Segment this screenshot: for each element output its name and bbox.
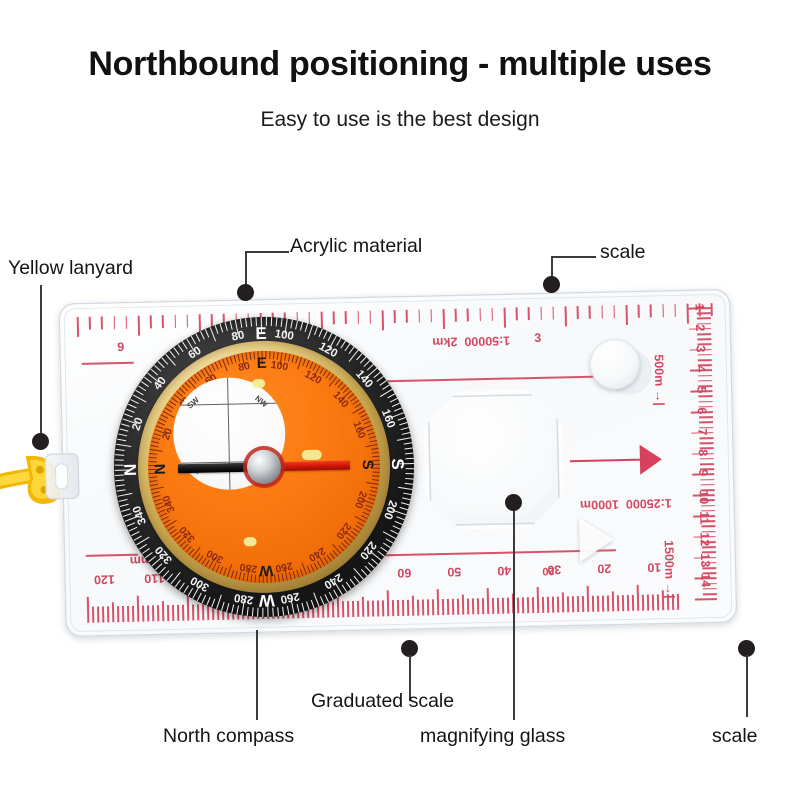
bezel-tick xyxy=(116,484,125,486)
ruler-tick xyxy=(552,597,554,613)
ruler-tick xyxy=(699,437,713,439)
ruler-number: 8 xyxy=(696,449,710,456)
bezel-degree: 260 xyxy=(278,589,302,605)
callout-leader-scale-top-v xyxy=(551,256,553,278)
bezel-tick xyxy=(220,323,224,332)
ruler-number: 13 xyxy=(698,553,712,567)
bezel-tick xyxy=(401,502,410,506)
ruler-tick xyxy=(517,597,519,613)
ruler-number: 50 xyxy=(442,565,466,580)
bezel-tick xyxy=(124,413,133,417)
bezel-tick xyxy=(404,442,413,445)
ruler-tick xyxy=(467,598,469,614)
ruler-tick xyxy=(647,595,649,611)
dial-tick xyxy=(149,480,157,482)
ruler-tick xyxy=(627,595,629,611)
bezel-tick xyxy=(246,607,248,616)
bezel-tick xyxy=(307,325,313,340)
dial-subcardinal-nw: NW xyxy=(253,394,269,409)
ruler-number: 20 xyxy=(592,561,616,576)
callout-label-scale-top: scale xyxy=(600,241,646,264)
ruler-tick xyxy=(701,505,715,507)
bezel-tick xyxy=(324,594,329,603)
ruler-tick xyxy=(557,597,559,613)
callout-label-acrylic-material: Acrylic material xyxy=(290,235,422,258)
ruler-number: 7 xyxy=(695,428,709,435)
ruler-tick xyxy=(547,597,549,613)
bezel-tick xyxy=(116,489,125,492)
bezel-tick xyxy=(396,516,405,520)
bezel-tick xyxy=(118,433,127,436)
bezel-tick xyxy=(281,318,283,327)
dial-tick xyxy=(366,482,379,485)
bezel-tick xyxy=(385,538,393,544)
bezel-tick xyxy=(364,566,371,573)
bezel-tick xyxy=(201,595,206,604)
dial-tick xyxy=(278,574,280,582)
lanyard-hole xyxy=(55,463,69,489)
callout-label-yellow-lanyard: Yellow lanyard xyxy=(8,257,133,280)
ruler-tick xyxy=(703,593,717,595)
ruler-tick xyxy=(101,316,103,329)
bezel-tick xyxy=(116,443,131,447)
ruler-tick xyxy=(698,375,712,377)
bezel-tick xyxy=(329,592,334,601)
ruler-tick xyxy=(642,595,644,611)
dial-tick xyxy=(295,356,298,364)
ruler-tick xyxy=(430,309,432,322)
ruler-tick xyxy=(577,596,579,612)
bezel-tick xyxy=(402,497,411,500)
ruler-tick xyxy=(699,401,713,403)
ruler-tick xyxy=(698,354,712,356)
bezel-tick xyxy=(399,422,408,426)
ruler-tick xyxy=(522,597,524,613)
ruler-tick xyxy=(491,308,493,321)
magnifier-inner xyxy=(435,401,554,520)
dial-tick xyxy=(372,475,380,477)
luminous-dot-top xyxy=(252,379,265,388)
callout-leader-yellow-lanyard xyxy=(40,285,42,437)
bezel-tick xyxy=(371,558,379,565)
ruler-tick xyxy=(552,307,554,320)
ruler-tick xyxy=(432,599,434,615)
bezel-tick xyxy=(215,325,219,334)
index-triangle xyxy=(579,517,614,562)
dial-tick xyxy=(370,440,378,443)
dial-tick xyxy=(149,453,157,455)
dial-tick xyxy=(150,449,163,452)
callout-leader-scale-top-h xyxy=(551,256,596,258)
callout-leader-acrylic-h xyxy=(245,251,289,253)
bezel-tick xyxy=(399,507,408,511)
ruler-tick xyxy=(702,546,716,548)
ruler-number: 1 xyxy=(693,303,707,310)
bezel-degree: 280 xyxy=(232,591,256,606)
bezel-tick xyxy=(403,493,412,496)
ruler-tick xyxy=(442,599,444,615)
bezel-tick xyxy=(401,427,410,431)
luminous-dot-bottom xyxy=(244,537,257,546)
ruler-tick xyxy=(528,307,530,320)
bezel-tick xyxy=(387,393,395,399)
bezel-tick xyxy=(115,454,124,456)
ruler-number: 12 xyxy=(698,532,712,546)
bezel-tick xyxy=(296,604,299,613)
ruler-tick xyxy=(447,599,449,615)
dial-tick xyxy=(151,486,164,490)
bezel-tick xyxy=(200,331,205,340)
ruler-tick xyxy=(700,479,714,481)
ruler-tick xyxy=(698,380,712,382)
ruler-tick xyxy=(467,308,469,321)
ruler-tick xyxy=(102,606,104,622)
ruler-tick xyxy=(652,594,654,610)
ruler-tick xyxy=(700,484,714,486)
bezel-tick xyxy=(390,398,399,403)
bezel-tick xyxy=(295,320,298,329)
ruler-number: 9 xyxy=(696,470,710,477)
bezel-tick xyxy=(314,326,318,335)
bezel-tick xyxy=(197,593,202,602)
ruler-tick xyxy=(607,595,609,611)
dial-tick xyxy=(277,352,279,360)
bezel-tick xyxy=(245,318,247,327)
bezel-tick xyxy=(402,432,411,435)
dial-tick xyxy=(151,445,159,448)
dial-tick xyxy=(218,360,222,368)
ruler-tick xyxy=(97,607,99,623)
bezel-tick xyxy=(191,336,197,344)
ruler-tick xyxy=(697,318,711,320)
ruler-tick xyxy=(89,317,91,330)
bezel-tick xyxy=(123,513,132,517)
bezel-tick xyxy=(328,333,333,342)
bezel-tick xyxy=(121,423,130,427)
dial-tick xyxy=(369,436,377,439)
bezel-tick xyxy=(161,357,168,364)
bezel-tick xyxy=(368,562,375,569)
direction-arrow-head xyxy=(640,444,663,474)
ruler-tick xyxy=(452,599,454,615)
bezel-tick xyxy=(144,377,152,383)
bezel-tick xyxy=(345,582,351,590)
bezel-tick xyxy=(380,547,388,553)
bezel-tick xyxy=(117,438,126,441)
bezel-tick xyxy=(119,428,128,432)
ruler-tick xyxy=(502,598,504,614)
bezel-tick xyxy=(130,399,139,404)
bezel-tick xyxy=(182,341,188,349)
bezel-tick xyxy=(394,521,403,526)
dial-tick xyxy=(250,574,252,582)
callout-dot-acrylic-material xyxy=(237,284,254,301)
bezel-tick xyxy=(287,606,290,615)
callout-label-graduated-scale: Graduated scale xyxy=(311,690,454,713)
callout-dot-yellow-lanyard xyxy=(32,433,49,450)
ruler-tick xyxy=(542,597,544,613)
bezel-tick xyxy=(301,603,305,612)
ruler-tick xyxy=(597,596,599,612)
ruler-tick xyxy=(479,308,481,321)
bezel-tick xyxy=(405,483,414,485)
ruler-tick xyxy=(107,606,109,622)
bezel-tick xyxy=(404,447,413,449)
dial-tick xyxy=(370,490,378,493)
bezel-tick xyxy=(282,607,284,616)
bezel-tick xyxy=(349,579,355,587)
bezel-tick xyxy=(323,330,328,339)
dial-tick xyxy=(371,486,379,489)
bezel-tick xyxy=(392,402,401,407)
callout-label-north-compass: North compass xyxy=(163,725,294,748)
ruler-tick xyxy=(711,303,713,316)
ruler-tick xyxy=(622,595,624,611)
page-title: Northbound positioning - multiple uses xyxy=(0,45,800,84)
dial-degree: 100 xyxy=(269,359,291,374)
callout-leader-scale-bottom xyxy=(746,655,748,717)
ruler-number: 14 xyxy=(698,574,712,588)
ruler-tick xyxy=(418,309,420,322)
bezel-tick xyxy=(126,408,135,413)
callout-dot-scale-top xyxy=(543,276,560,293)
ruler-tick xyxy=(701,525,715,527)
bezel-tick xyxy=(151,369,159,376)
dial-tick xyxy=(372,479,380,481)
dial-tick xyxy=(292,355,295,363)
bezel-tick xyxy=(353,576,360,584)
bezel-tick xyxy=(195,333,200,342)
magnifying-glass-lens[interactable] xyxy=(422,388,565,531)
dial-tick xyxy=(242,573,245,581)
ruler-tick xyxy=(92,607,94,623)
ruler-tick xyxy=(455,309,457,322)
luminous-dot-right xyxy=(302,450,322,460)
ruler-tick xyxy=(507,598,509,614)
dial-degree: 80 xyxy=(233,359,255,375)
dial-tick xyxy=(300,569,304,577)
ruler-tick xyxy=(703,588,717,590)
bezel-tick xyxy=(206,597,211,606)
ruler-tick xyxy=(532,597,534,613)
ruler-tick xyxy=(699,416,713,418)
dial-tick xyxy=(152,491,160,494)
bezel-tick xyxy=(306,601,310,610)
dial-tick xyxy=(238,572,241,580)
dial-tick xyxy=(368,497,376,500)
bezel-tick xyxy=(141,381,149,387)
dial-tick xyxy=(284,353,287,361)
ruler-tick xyxy=(702,567,716,569)
romer-mark-20: 20 xyxy=(542,565,555,577)
ruler-tick xyxy=(482,598,484,614)
bezel-tick xyxy=(118,499,127,502)
bezel-tick xyxy=(397,437,412,441)
ruler-tick xyxy=(457,599,459,615)
dial-tick xyxy=(234,571,237,579)
bezel-tick xyxy=(300,322,304,331)
bezel-tick xyxy=(390,530,399,535)
ruler-tick xyxy=(516,307,518,320)
bezel-tick xyxy=(154,365,161,372)
bezel-tick xyxy=(117,493,132,497)
ruler-tick xyxy=(617,595,619,611)
ruler-number: 6 xyxy=(695,407,709,414)
bezel-tick xyxy=(127,522,136,527)
bezel-tick xyxy=(311,600,315,609)
ruler-tick xyxy=(572,596,574,612)
bezel-tick xyxy=(129,526,138,531)
ruler-tick xyxy=(592,596,594,612)
bezel-tick xyxy=(120,503,129,507)
ruler-tick xyxy=(577,306,579,319)
ruler-tick xyxy=(697,338,711,340)
dial-degree: 200 xyxy=(352,488,370,511)
bezel-tick xyxy=(240,319,243,328)
ruler-tick xyxy=(427,599,429,615)
dial-tick xyxy=(365,505,373,509)
ruler-tick xyxy=(497,598,499,614)
bezel-tick xyxy=(135,390,143,396)
ruler-tick xyxy=(650,304,652,317)
bezel-tick xyxy=(169,350,176,358)
ruler-tick xyxy=(540,307,542,320)
ruler-number: 11 xyxy=(697,511,711,525)
bezel-tick xyxy=(231,604,234,613)
ruler-tick xyxy=(472,598,474,614)
bezel-tick xyxy=(128,404,137,409)
bezel-tick xyxy=(383,543,391,549)
callout-label-scale-bottom: scale xyxy=(712,725,758,748)
bezel-tick xyxy=(211,599,215,608)
bezel-tick xyxy=(225,322,229,331)
orienting-line-v xyxy=(227,378,230,490)
ruler-number: 4 xyxy=(694,366,708,373)
dial-tick xyxy=(231,570,234,578)
ruler-number: 5 xyxy=(694,386,708,393)
callout-dot-magnifying-glass xyxy=(505,494,522,511)
bezel-tick xyxy=(394,407,403,412)
bezel-tick xyxy=(221,602,225,611)
ruler-tick xyxy=(527,597,529,613)
bezel-tick xyxy=(158,361,165,368)
callout-label-magnifying-glass: magnifying glass xyxy=(420,725,565,748)
ruler-number: 2 xyxy=(693,324,707,331)
ruler-tick xyxy=(698,359,712,361)
ruler-tick xyxy=(700,458,714,460)
scale-mark-500m: 500m →| xyxy=(652,354,667,406)
bezel-tick xyxy=(320,596,325,605)
ruler-tick xyxy=(657,594,659,610)
ruler-tick xyxy=(477,598,479,614)
bezel-tick xyxy=(377,551,385,557)
ruler-tick xyxy=(602,596,604,612)
north-compass-capsule[interactable]: NESW204060801001201401602002202402602803… xyxy=(111,314,417,620)
ruler-tick xyxy=(638,305,640,318)
dial-tick xyxy=(297,357,302,370)
ruler-tick xyxy=(700,463,714,465)
ruler-tick xyxy=(492,598,494,614)
bezel-tick xyxy=(276,317,278,326)
bezel-tick xyxy=(398,417,407,421)
page-subtitle: Easy to use is the best design xyxy=(0,108,800,132)
dial-subcardinal-sw: SW xyxy=(185,395,201,410)
ruler-tick xyxy=(697,312,711,314)
ruler-tick xyxy=(674,304,676,317)
ruler-tick xyxy=(632,595,634,611)
bezel-tick xyxy=(138,385,146,391)
callout-leader-north-compass xyxy=(256,630,258,720)
dial-tick xyxy=(292,571,295,579)
ruler-tick xyxy=(699,422,713,424)
bezel-tick xyxy=(313,592,320,606)
bezel-tick xyxy=(252,607,254,616)
dial-tick xyxy=(281,573,283,581)
ruler-tick xyxy=(700,442,714,444)
ruler-tick xyxy=(582,596,584,612)
dial-tick xyxy=(365,444,378,448)
dial-tick xyxy=(369,494,377,497)
dial-degree: 340 xyxy=(160,492,178,515)
dial-cardinal-s: S xyxy=(359,454,376,474)
dial-degree: 260 xyxy=(273,559,295,575)
callout-leader-acrylic-v xyxy=(245,251,247,286)
bezel-tick xyxy=(236,605,239,614)
ruler-number: 3 xyxy=(693,345,707,352)
ruler-number: 120 xyxy=(92,572,116,587)
bezel-tick xyxy=(341,584,347,592)
dial-tick xyxy=(289,572,292,580)
bezel-tick xyxy=(178,344,184,352)
dial-degree: 220 xyxy=(333,519,355,542)
ruler-tick xyxy=(697,333,711,335)
ruler-tick xyxy=(601,305,603,318)
ruler-tick xyxy=(589,306,591,319)
bezel-tick xyxy=(173,347,179,355)
bezel-tick xyxy=(361,569,368,576)
bezel-tick xyxy=(398,487,413,491)
bezel-tick xyxy=(392,525,401,530)
bezel-tick xyxy=(319,328,324,337)
bezel-tick xyxy=(333,590,339,598)
lanyard-lug xyxy=(45,453,80,500)
bezel-tick xyxy=(121,508,130,512)
ruler-tick xyxy=(613,305,615,318)
infographic-canvas: Northbound positioning - multiple uses E… xyxy=(0,0,800,800)
ruler-tick xyxy=(677,594,679,610)
scale-mark-1500m: 1500m →| xyxy=(662,540,677,599)
ruler-tick xyxy=(422,599,424,615)
compass-product: 93 120110100908070605040302010mm 1234567… xyxy=(58,289,737,644)
dial-tick xyxy=(150,484,158,486)
dial-tick xyxy=(296,570,300,578)
dial-tick xyxy=(368,432,376,436)
bezel-tick xyxy=(290,319,293,328)
bezel-tick xyxy=(230,321,233,330)
ruler-tick xyxy=(662,304,664,317)
bezel-tick xyxy=(116,449,125,451)
ruler-tick xyxy=(699,396,713,398)
bezel-tick xyxy=(405,478,414,480)
bezel-tick xyxy=(226,603,230,612)
dial-tick xyxy=(226,357,230,365)
bezel-tick xyxy=(305,323,309,332)
bezel-tick xyxy=(205,329,210,338)
ruler-tick xyxy=(567,596,569,612)
dial-tick xyxy=(371,448,379,450)
callout-leader-magnifying-glass xyxy=(513,505,515,720)
dial-cardinal-n: N xyxy=(152,459,169,479)
